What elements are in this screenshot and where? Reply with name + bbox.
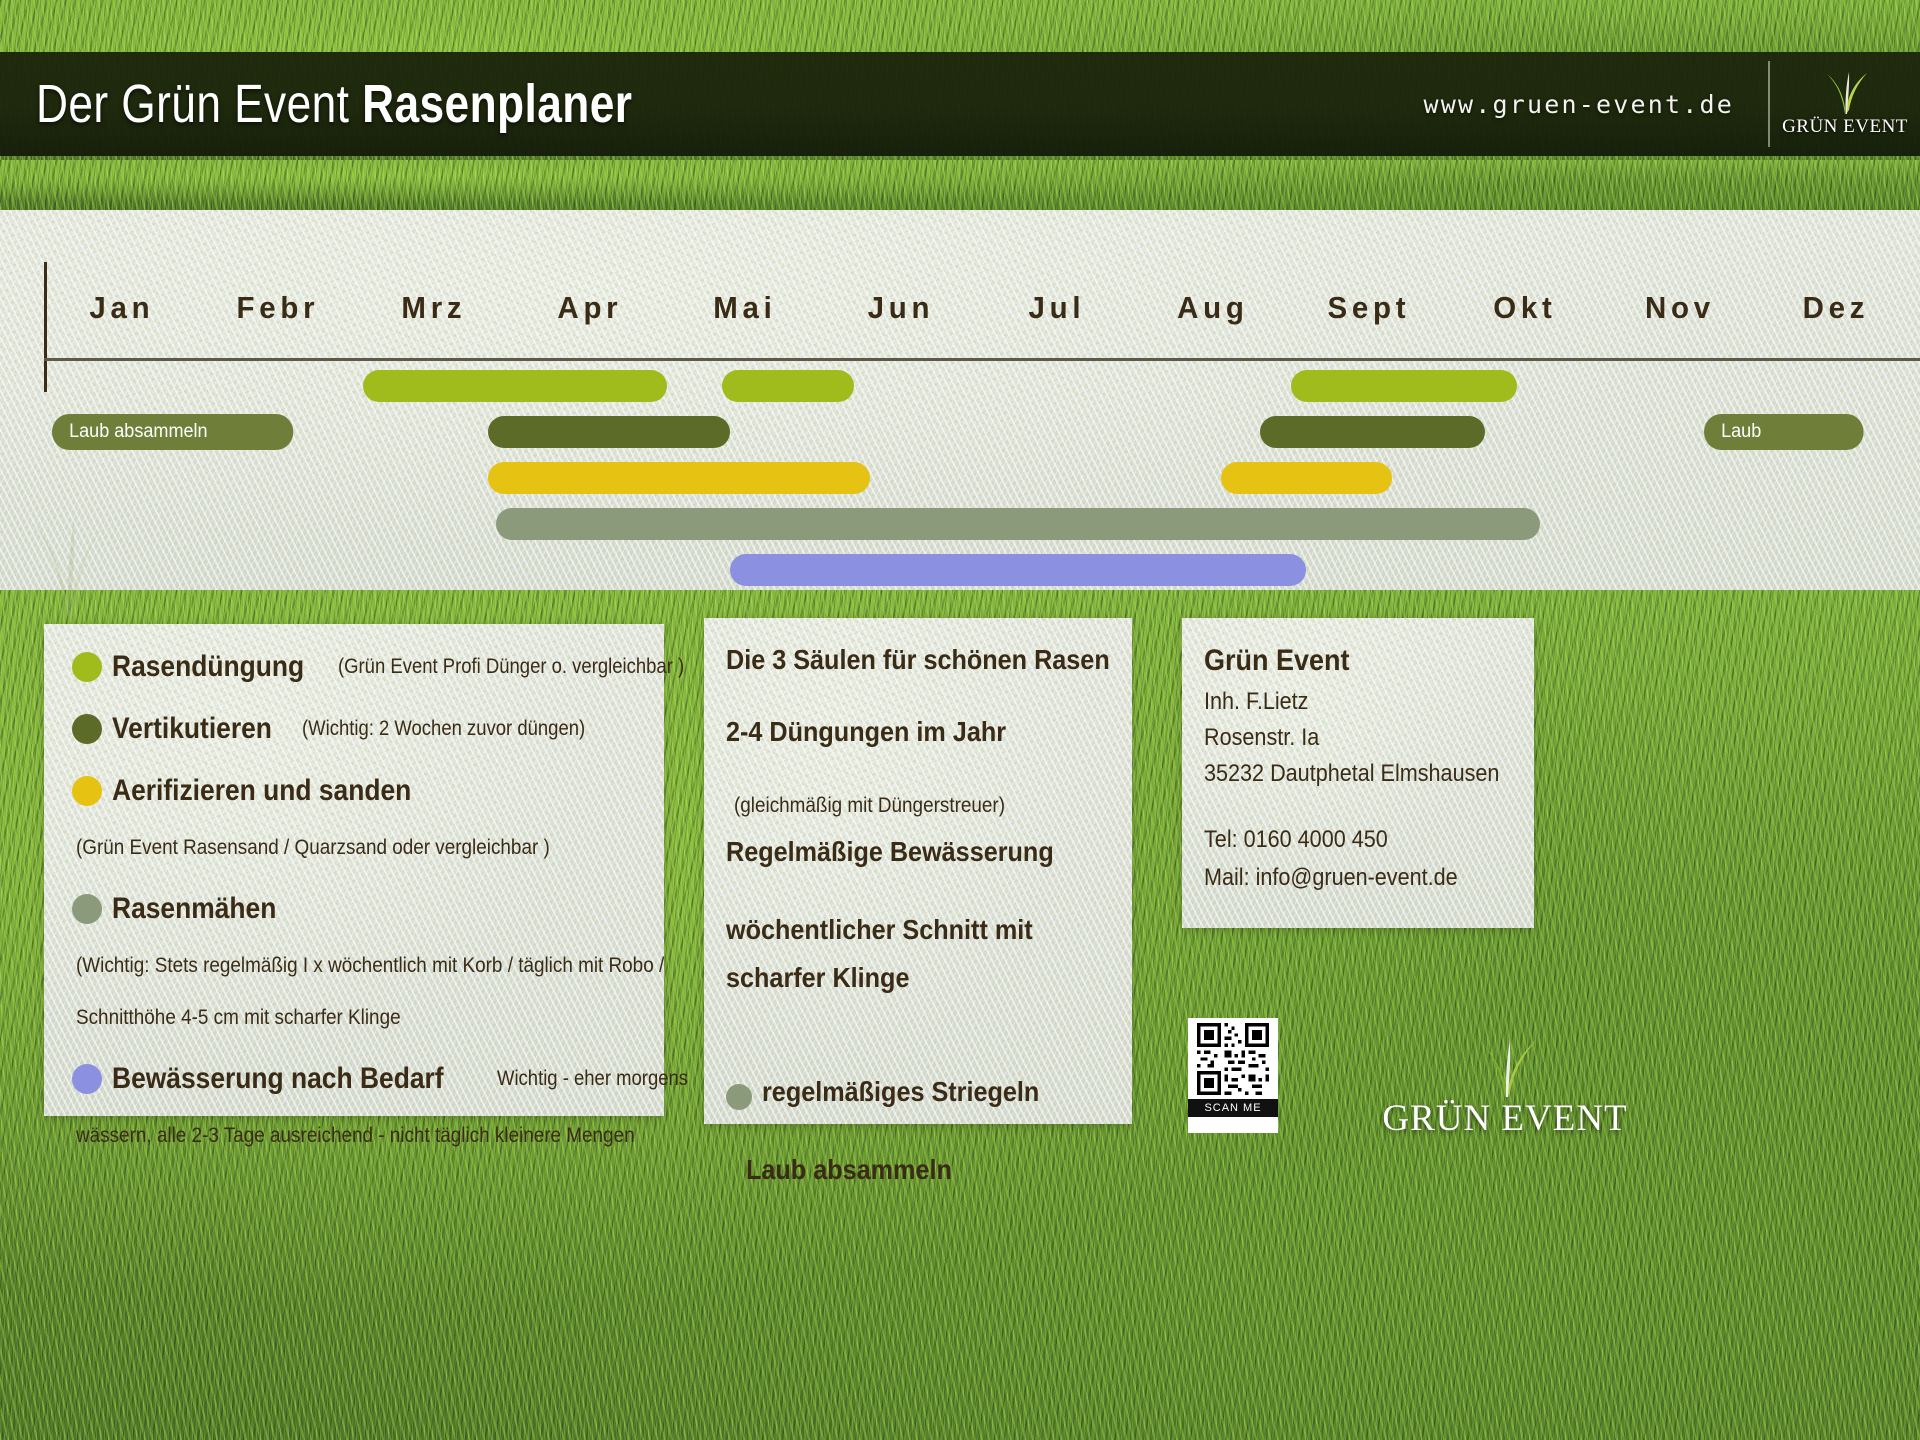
contact-line-1: Inh. F.Lietz <box>1204 688 1308 716</box>
header-right: www.gruen-event.de GRÜN EVENT <box>1423 52 1920 156</box>
contact-line-3: 35232 Dautphetal Elmshausen <box>1204 760 1499 788</box>
chart-bar-vertikutieren-1 <box>488 416 730 448</box>
legend-item-sub-5-1: wässern, alle 2-3 Tage ausreichend - nic… <box>76 1124 635 1148</box>
chart-bars-area: Laub absammelnLaub <box>0 370 1920 590</box>
legend-item-note-1: (Grün Event Profi Dünger o. vergleichbar… <box>338 655 684 679</box>
contact-company: Grün Event <box>1204 644 1350 678</box>
chart-bar-bew-sserung-nach-bedarf-1 <box>730 554 1307 586</box>
contact-phone[interactable]: Tel: 0160 4000 450 <box>1204 826 1388 854</box>
legend-item-label-2: Vertikutieren <box>112 712 272 746</box>
legend-color-dot-4 <box>72 894 102 924</box>
page-title: Der Grün Event Rasenplaner <box>36 73 632 135</box>
pillars-bullet-label-2: Laub absammeln <box>746 1154 952 1186</box>
legend-item-4: Rasenmähen <box>72 892 299 926</box>
footer-grass-blades-icon <box>1462 1037 1548 1097</box>
poster-stage: Der Grün Event Rasenplaner www.gruen-eve… <box>0 0 1920 1440</box>
page-title-bold: Rasenplaner <box>362 74 632 134</box>
header-band: Der Grün Event Rasenplaner www.gruen-eve… <box>0 52 1920 156</box>
chart-month-label-dez: Dez <box>1762 290 1910 326</box>
legend-color-dot-5 <box>72 1064 102 1094</box>
chart-bar-rasend-ngung-2 <box>722 370 854 402</box>
legend-card: Rasendüngung(Grün Event Profi Dünger o. … <box>44 624 664 1116</box>
chart-month-label-sept: Sept <box>1295 290 1443 326</box>
chart-month-label-jul: Jul <box>983 290 1131 326</box>
qr-code-block[interactable]: SCAN ME <box>1188 1018 1278 1133</box>
legend-color-dot-3 <box>72 776 102 806</box>
chart-month-label-nov: Nov <box>1606 290 1754 326</box>
pillars-line-3: Regelmäßige Bewässerung <box>726 836 1054 868</box>
chart-month-label-okt: Okt <box>1450 290 1598 326</box>
pillars-heading: Die 3 Säulen für schönen Rasen <box>726 644 1110 676</box>
legend-item-sub-4-1: (Wichtig: Stets regelmäßig I x wöchentli… <box>76 954 664 978</box>
legend-item-sub-4-2: Schnitthöhe 4-5 cm mit scharfer Klinge <box>76 1006 401 1030</box>
pillars-line-4: wöchentlicher Schnitt mit <box>726 914 1033 946</box>
chart-month-label-mai: Mai <box>671 290 819 326</box>
pillars-card: Die 3 Säulen für schönen Rasen2-4 Düngun… <box>704 618 1132 1124</box>
contact-line-2: Rosenstr. Ia <box>1204 724 1319 752</box>
grass-blades-icon <box>1813 70 1877 114</box>
chart-bar-aerifizieren-und-sanden-2 <box>1221 462 1392 494</box>
legend-item-sub-3-1: (Grün Event Rasensand / Quarzsand oder v… <box>76 836 550 860</box>
chart-bar-vertikutieren-2 <box>1260 416 1486 448</box>
chart-bar-rasend-ngung-3 <box>1291 370 1517 402</box>
legend-item-label-4: Rasenmähen <box>112 892 276 926</box>
chart-month-label-apr: Apr <box>515 290 663 326</box>
chart-bar-rasend-ngung-1 <box>363 370 667 402</box>
qr-code-icon <box>1197 1023 1269 1095</box>
contact-mail[interactable]: Mail: info@gruen-event.de <box>1204 864 1458 892</box>
legend-item-label-3: Aerifizieren und sanden <box>112 774 411 808</box>
legend-item-3: Aerifizieren und sanden <box>72 774 452 808</box>
website-url[interactable]: www.gruen-event.de <box>1423 90 1768 119</box>
chart-month-label-jun: Jun <box>827 290 975 326</box>
brand-logo-text: GRÜN EVENT <box>1782 116 1908 138</box>
pillars-line-1: 2-4 Düngungen im Jahr <box>726 716 1006 748</box>
footer-brand-logo: GRÜN EVENT <box>1380 1022 1630 1140</box>
qr-caption: SCAN ME <box>1188 1099 1278 1117</box>
chart-month-label-mrz: Mrz <box>360 290 508 326</box>
pillars-bullet-dot-1 <box>726 1084 752 1110</box>
footer-brand-text: GRÜN EVENT <box>1382 1097 1627 1140</box>
legend-item-note-2: (Wichtig: 2 Wochen zuvor düngen) <box>302 717 585 741</box>
legend-item-label-1: Rasendüngung <box>112 650 304 684</box>
page-title-light: Der Grün Event <box>36 74 362 134</box>
chart-bar-aerifizieren-und-sanden-1 <box>488 462 870 494</box>
legend-item-note-5: Wichtig - eher morgens <box>497 1067 688 1091</box>
legend-item-5: Bewässerung nach BedarfWichtig - eher mo… <box>72 1062 714 1096</box>
chart-month-labels: JanFebrMrzAprMaiJunJulAugSeptOktNovDez <box>44 290 1914 350</box>
pillars-line-2: (gleichmäßig mit Düngerstreuer) <box>734 794 1005 818</box>
grass-background-middle <box>0 160 1920 210</box>
timeline-chart: JanFebrMrzAprMaiJunJulAugSeptOktNovDez L… <box>0 210 1920 590</box>
legend-color-dot-1 <box>72 652 102 682</box>
chart-annotation-pill-2: Laub <box>1704 414 1864 450</box>
chart-month-label-aug: Aug <box>1139 290 1287 326</box>
chart-x-axis <box>44 358 1920 361</box>
chart-bar-rasenm-hen-1 <box>496 508 1540 540</box>
legend-item-1: Rasendüngung(Grün Event Profi Dünger o. … <box>72 650 732 684</box>
contact-card: Grün Event Inh. F.Lietz Rosenstr. Ia 352… <box>1182 618 1534 928</box>
legend-color-dot-2 <box>72 714 102 744</box>
chart-month-label-febr: Febr <box>204 290 352 326</box>
pillars-line-5: scharfer Klinge <box>726 962 909 994</box>
brand-logo: GRÜN EVENT <box>1770 70 1920 138</box>
legend-item-label-5: Bewässerung nach Bedarf <box>112 1062 444 1096</box>
timeline-chart-panel: JanFebrMrzAprMaiJunJulAugSeptOktNovDez L… <box>0 210 1920 590</box>
chart-month-label-jan: Jan <box>48 290 196 326</box>
legend-item-2: Vertikutieren(Wichtig: 2 Wochen zuvor dü… <box>72 712 624 746</box>
chart-annotation-pill-1: Laub absammeln <box>52 414 293 450</box>
pillars-bullet-label-1: regelmäßiges Striegeln <box>762 1076 1039 1108</box>
